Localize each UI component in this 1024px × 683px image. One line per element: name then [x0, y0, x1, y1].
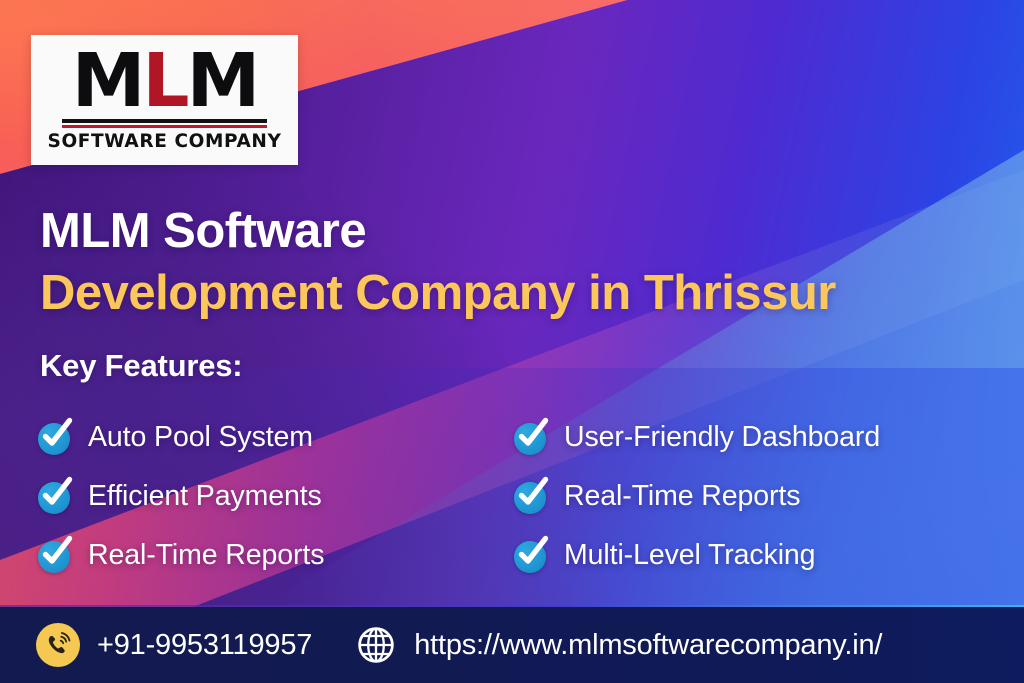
headline-block: MLM Software Development Company in Thri…	[40, 205, 1000, 320]
check-circle-icon	[36, 538, 72, 574]
feature-label: User-Friendly Dashboard	[564, 421, 880, 454]
check-circle-icon	[512, 420, 548, 456]
check-circle-icon	[36, 479, 72, 515]
check-circle-icon	[512, 538, 548, 574]
feature-label: Auto Pool System	[88, 421, 313, 454]
feature-item: User-Friendly Dashboard	[512, 408, 988, 467]
check-circle-icon	[36, 420, 72, 456]
features-left-column: Auto Pool System Efficient Payments	[36, 408, 512, 585]
features-list: Auto Pool System Efficient Payments	[36, 408, 988, 585]
headline-line-2: Development Company in Thrissur	[40, 267, 1000, 320]
contact-bar-top-edge	[0, 605, 1024, 607]
feature-item: Multi-Level Tracking	[512, 526, 988, 585]
globe-icon	[355, 624, 397, 666]
feature-item: Real-Time Reports	[36, 526, 512, 585]
website-contact-group[interactable]: https://www.mlmsoftwarecompany.in/	[355, 624, 882, 666]
logo-wordmark: MLM	[72, 50, 257, 114]
check-circle-icon	[512, 479, 548, 515]
logo-divider-rules	[62, 119, 267, 128]
feature-label: Real-Time Reports	[564, 480, 800, 513]
check-mark-icon	[512, 533, 552, 573]
feature-item: Efficient Payments	[36, 467, 512, 526]
feature-label: Real-Time Reports	[88, 539, 324, 572]
phone-number[interactable]: +91-9953119957	[97, 629, 312, 662]
logo-letter-m1: M	[72, 50, 143, 114]
logo-rule-black	[62, 119, 267, 123]
contact-bar: +91-9953119957 https://www.mlmsoftwareco…	[0, 607, 1024, 683]
key-features-title: Key Features:	[40, 348, 242, 384]
banner-canvas: MLM SOFTWARE COMPANY MLM Software Develo…	[0, 0, 1024, 683]
headline-line-1: MLM Software	[40, 205, 1000, 258]
logo-rule-red	[62, 125, 267, 128]
phone-contact-group[interactable]: +91-9953119957	[36, 623, 312, 667]
check-mark-icon	[36, 533, 76, 573]
check-mark-icon	[512, 474, 552, 514]
features-right-column: User-Friendly Dashboard Real-Time Report…	[512, 408, 988, 585]
feature-item: Real-Time Reports	[512, 467, 988, 526]
feature-label: Multi-Level Tracking	[564, 539, 815, 572]
check-mark-icon	[36, 415, 76, 455]
company-logo: MLM SOFTWARE COMPANY	[31, 35, 298, 165]
logo-letter-m2: M	[187, 50, 258, 114]
check-mark-icon	[512, 415, 552, 455]
logo-letter-l: L	[142, 50, 186, 114]
website-url[interactable]: https://www.mlmsoftwarecompany.in/	[414, 629, 882, 662]
check-mark-icon	[36, 474, 76, 514]
feature-item: Auto Pool System	[36, 408, 512, 467]
feature-label: Efficient Payments	[88, 480, 322, 513]
logo-subtitle: SOFTWARE COMPANY	[48, 131, 282, 152]
phone-call-icon	[36, 623, 80, 667]
